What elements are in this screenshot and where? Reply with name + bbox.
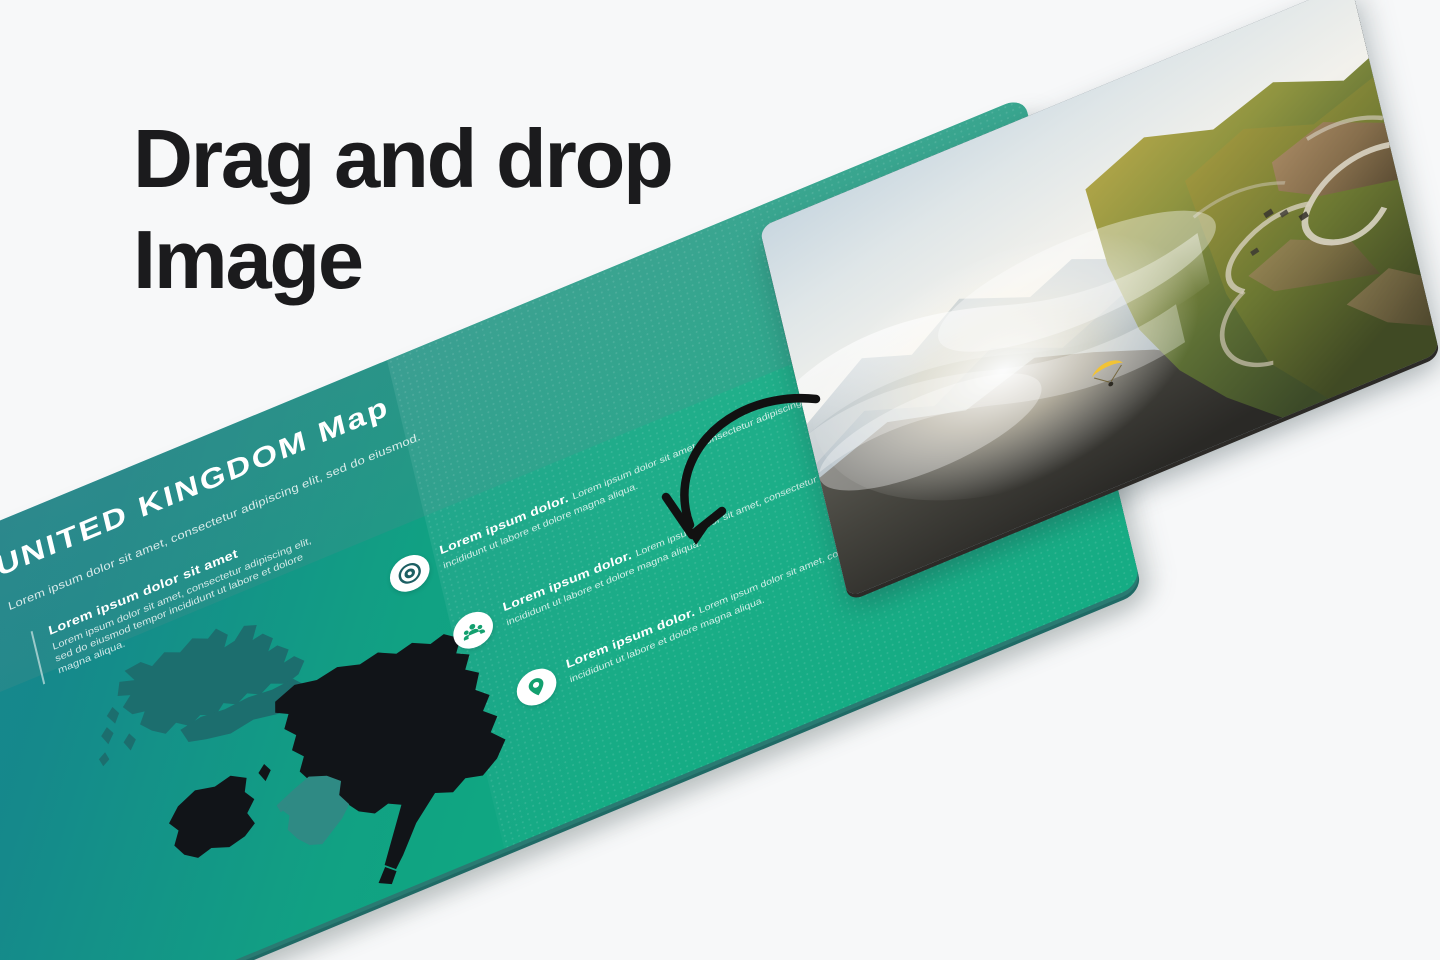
map-region-isle-of-man xyxy=(257,762,273,783)
map-region-northern-ireland xyxy=(164,769,262,868)
canvas: Drag and drop Image xyxy=(0,0,1440,960)
